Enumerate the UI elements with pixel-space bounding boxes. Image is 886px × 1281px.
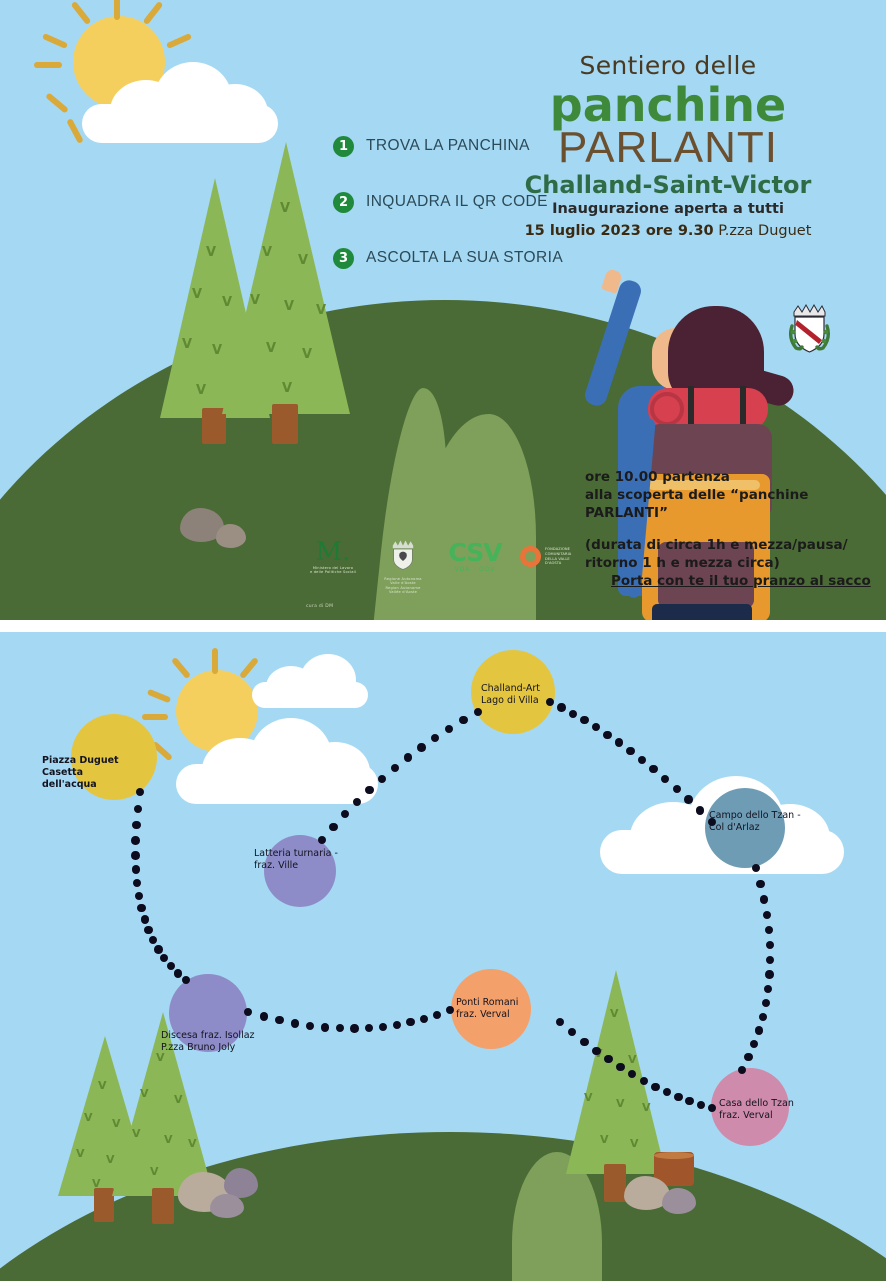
title-date-bold: 15 luglio 2023 ore 9.30	[525, 223, 714, 239]
station-challand-art-lago-villa-label: Challand-ArtLago di Villa	[481, 683, 540, 707]
logo-ministero-subtitle: Ministero del Lavoro e delle Politiche S…	[300, 566, 366, 575]
trail-dot	[762, 999, 770, 1007]
trail-dot	[134, 805, 142, 813]
trail-dot	[131, 851, 139, 859]
poster-root: V V V V V V V V V V V V V V V V V	[0, 0, 886, 1281]
title-parlanti: PARLANTI	[458, 126, 878, 170]
cloud-shape	[82, 58, 287, 143]
trail-dot	[626, 747, 634, 755]
rock-small	[216, 524, 246, 548]
top-panel: V V V V V V V V V V V V V V V V V	[0, 0, 886, 620]
trail-dot	[131, 836, 139, 844]
trail-dot	[174, 969, 182, 977]
trail-dot	[765, 970, 773, 978]
trail-dot	[132, 821, 140, 829]
trail-dot	[393, 1021, 401, 1029]
station-ponti-romani-verval-label: Ponti Romanifraz. Verval	[456, 997, 518, 1021]
trail-dot	[321, 1023, 329, 1031]
trail-dot	[141, 915, 149, 923]
trail-dot	[755, 1026, 763, 1034]
trail-dot	[604, 1055, 612, 1063]
logo-regione-subtitle: Regione Autonoma Valle d'Aoste Region Au…	[378, 577, 428, 595]
trail-dot	[350, 1024, 358, 1032]
schedule-line-2: alla scoperta delle “panchine PARLANTI”	[585, 486, 885, 522]
credit-text: cura di DM	[306, 604, 333, 609]
map-cloud-left	[176, 714, 386, 804]
logo-ministero: M. Ministero del Lavoro e delle Politich…	[300, 540, 366, 575]
logo-fondazione-subtitle: FONDAZIONE COMUNITARIA DELLA VALLE D'AOS…	[545, 547, 571, 566]
title-comune: Challand-Saint-Victor	[458, 172, 878, 200]
map-rock-5	[662, 1188, 696, 1214]
trail-dot	[756, 880, 764, 888]
title-sentiero: Sentiero delle	[458, 52, 878, 80]
trail-dot	[260, 1012, 268, 1020]
trail-dot	[615, 738, 623, 746]
logo-ministero-mark: M.	[300, 540, 366, 565]
trail-dot	[404, 753, 412, 761]
step-badge-3: 3	[333, 248, 354, 269]
trail-dot	[760, 895, 768, 903]
trail-dot	[763, 911, 771, 919]
schedule-text: ore 10.00 partenza alla scoperta delle “…	[585, 468, 885, 590]
trail-dot	[329, 823, 337, 831]
trail-dot	[580, 1038, 588, 1046]
title-panchine: panchine	[458, 82, 878, 128]
trail-dot	[616, 1063, 624, 1071]
logo-regione-vda: Regione Autonoma Valle d'Aoste Region Au…	[378, 538, 428, 595]
title-date-place: P.zza Duguet	[714, 223, 812, 239]
trail-dot	[406, 1018, 414, 1026]
trail-dot	[459, 716, 467, 724]
station-campo-tzan-col-arlaz-label: Campo dello Tzan -Col d'Arlaz	[709, 810, 801, 834]
trail-dot	[379, 1023, 387, 1031]
station-casa-tzan-verval-label: Casa dello Tzanfraz. Verval	[719, 1098, 794, 1122]
trail-dot	[154, 945, 162, 953]
trail-dot	[603, 731, 611, 739]
title-inaugurazione: Inaugurazione aperta a tutti	[458, 201, 878, 217]
trail-dot	[132, 865, 140, 873]
trail-dot	[592, 1047, 600, 1055]
map-rock-3	[210, 1194, 244, 1218]
schedule-line-1: ore 10.00 partenza	[585, 468, 885, 486]
step-badge-1: 1	[333, 136, 354, 157]
sponsor-logos: M. Ministero del Lavoro e delle Politich…	[300, 540, 600, 586]
title-datetime: 15 luglio 2023 ore 9.30 P.zza Duguet	[458, 223, 878, 239]
trail-dot	[365, 786, 373, 794]
trail-dot	[417, 743, 425, 751]
logo-csv: CSV VDA - ODV	[440, 542, 510, 573]
trail-dot	[640, 1077, 648, 1085]
trail-dot	[557, 703, 565, 711]
trail-dot	[759, 1013, 767, 1021]
tree-right: V V V V V V V V V	[222, 142, 350, 442]
trail-dot	[144, 926, 152, 934]
station-latteria-ville-label: Latteria turnaria -fraz. Ville	[254, 848, 338, 872]
schedule-line-3: (durata di circa 1h e mezza/pausa/	[585, 536, 885, 554]
logo-fondazione: FONDAZIONE COMUNITARIA DELLA VALLE D'AOS…	[520, 546, 600, 567]
trail-dot	[291, 1019, 299, 1027]
trail-dot	[673, 785, 681, 793]
trail-dot	[684, 795, 692, 803]
trail-dot	[744, 1053, 752, 1061]
map-cloud-small	[252, 652, 372, 708]
step-label-3: ASCOLTA LA SUA STORIA	[366, 249, 563, 267]
trail-dot	[674, 1093, 682, 1101]
regione-crest-icon	[388, 538, 418, 572]
trail-dot	[420, 1015, 428, 1023]
title-block: Sentiero delle panchine PARLANTI Challan…	[458, 52, 878, 239]
trail-dot	[137, 904, 145, 912]
trail-dot	[580, 716, 588, 724]
trail-dot	[649, 765, 657, 773]
schedule-lunch-note: Porta con te il tuo pranzo al sacco	[611, 572, 871, 590]
step-badge-2: 2	[333, 192, 354, 213]
station-piazza-duguet-label: Piazza DuguetCasettadell'acqua	[42, 755, 119, 791]
schedule-line-4: ritorno 1 h e mezza circa)	[585, 554, 885, 572]
trail-dot	[697, 1101, 705, 1109]
trail-dot	[569, 710, 577, 718]
fondazione-ring-icon	[520, 546, 541, 567]
logo-csv-mark: CSV	[440, 542, 510, 565]
trail-dot	[651, 1083, 659, 1091]
station-discesa-isollaz-label: Discesa fraz. IsollazP.zza Bruno Joly	[161, 1030, 255, 1054]
